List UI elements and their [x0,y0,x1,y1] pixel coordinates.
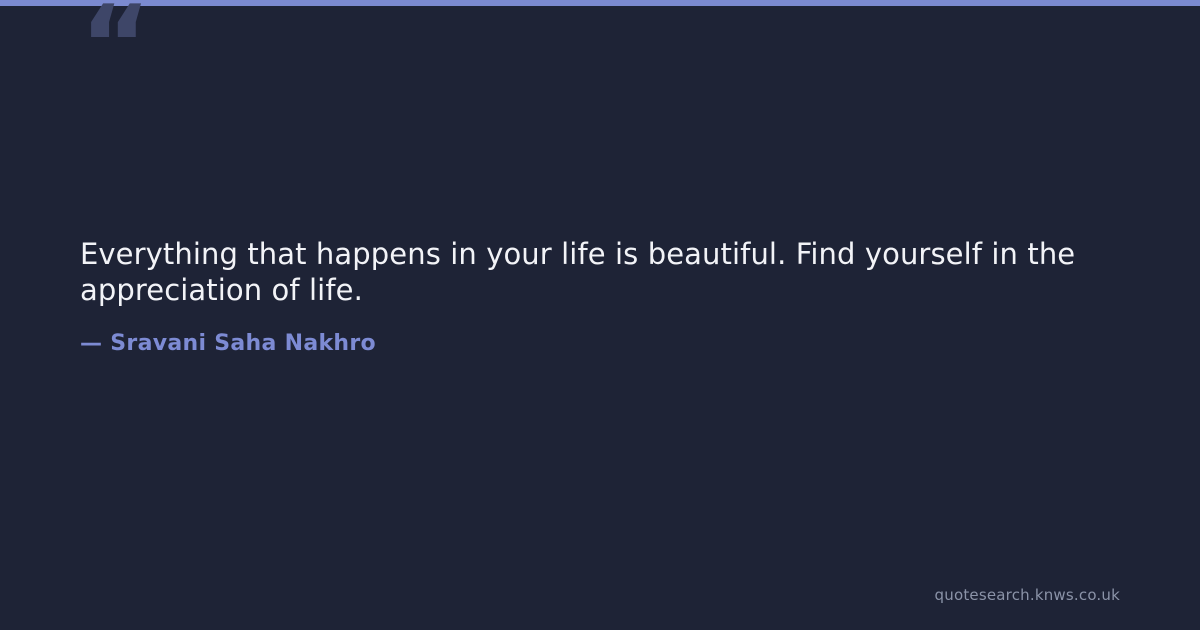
attribution-dash: — [80,331,102,356]
quote-mark-icon: “ [80,0,149,100]
top-accent-bar [0,0,1200,6]
quote-content-block: Everything that happens in your life is … [80,236,1110,358]
quote-card: “ Everything that happens in your life i… [0,0,1200,630]
site-footer-url: quotesearch.knws.co.uk [935,586,1120,604]
quote-attribution: — Sravani Saha Nakhro [80,308,1110,358]
quote-text: Everything that happens in your life is … [80,236,1110,308]
attribution-author-name: Sravani Saha Nakhro [110,331,376,356]
